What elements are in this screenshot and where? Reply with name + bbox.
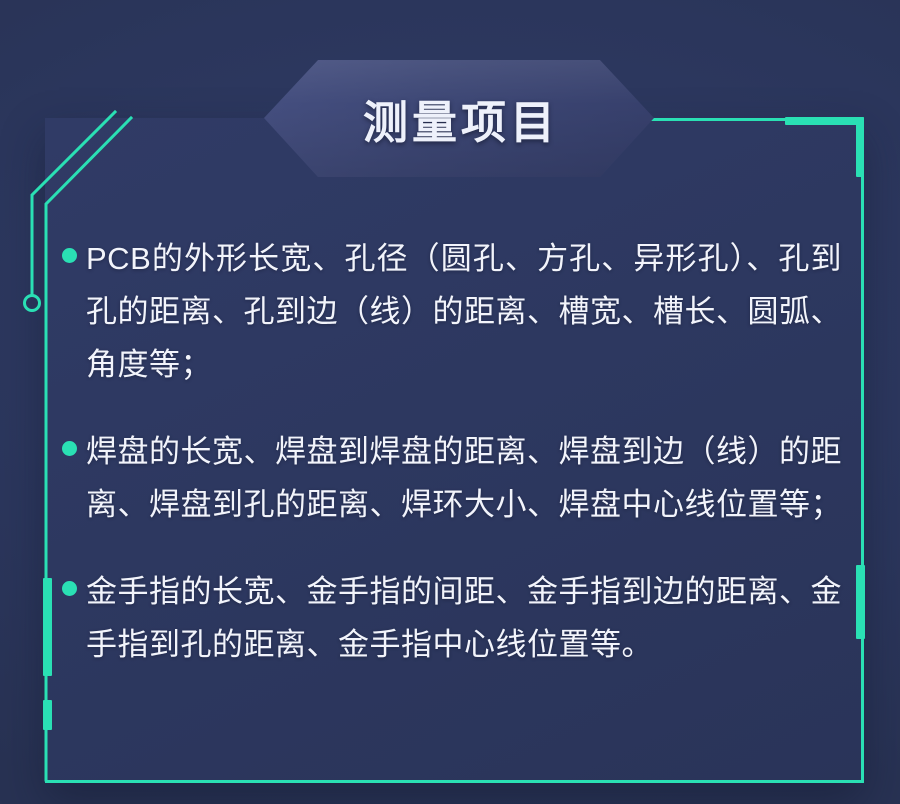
bullet-dot-icon — [62, 581, 77, 596]
accent-left-middle — [43, 578, 52, 676]
accent-top-right-horizontal — [785, 117, 864, 125]
panel-border-bottom — [45, 780, 864, 783]
list-item-text: 焊盘的长宽、焊盘到焊盘的距离、焊盘到边（线）的距离、焊盘到孔的距离、焊环大小、焊… — [86, 425, 842, 531]
title-banner: 测量项目 — [264, 60, 654, 177]
list-item: PCB的外形长宽、孔径（圆孔、方孔、异形孔）、孔到孔的距离、孔到边（线）的距离、… — [62, 232, 842, 391]
list-item-text: 金手指的长宽、金手指的间距、金手指到边的距离、金手指到孔的距离、金手指中心线位置… — [86, 565, 842, 671]
bullet-dot-icon — [62, 248, 77, 263]
accent-top-right-vertical — [856, 117, 864, 177]
panel-border-right — [861, 118, 864, 783]
list-item: 焊盘的长宽、焊盘到焊盘的距离、焊盘到边（线）的距离、焊盘到孔的距离、焊环大小、焊… — [62, 425, 842, 531]
banner-title-text: 测量项目 — [264, 60, 654, 177]
ring-endpoint-icon — [25, 296, 40, 311]
list-item-text: PCB的外形长宽、孔径（圆孔、方孔、异形孔）、孔到孔的距离、孔到边（线）的距离、… — [86, 232, 842, 391]
poster-canvas: 测量项目 PCB的外形长宽、孔径（圆孔、方孔、异形孔）、孔到孔的距离、孔到边（线… — [0, 0, 900, 804]
accent-bottom-left — [43, 700, 52, 730]
measurement-items-list: PCB的外形长宽、孔径（圆孔、方孔、异形孔）、孔到孔的距离、孔到边（线）的距离、… — [62, 232, 842, 671]
accent-right-middle — [856, 565, 865, 639]
bullet-dot-icon — [62, 441, 77, 456]
list-item: 金手指的长宽、金手指的间距、金手指到边的距离、金手指到孔的距离、金手指中心线位置… — [62, 565, 842, 671]
